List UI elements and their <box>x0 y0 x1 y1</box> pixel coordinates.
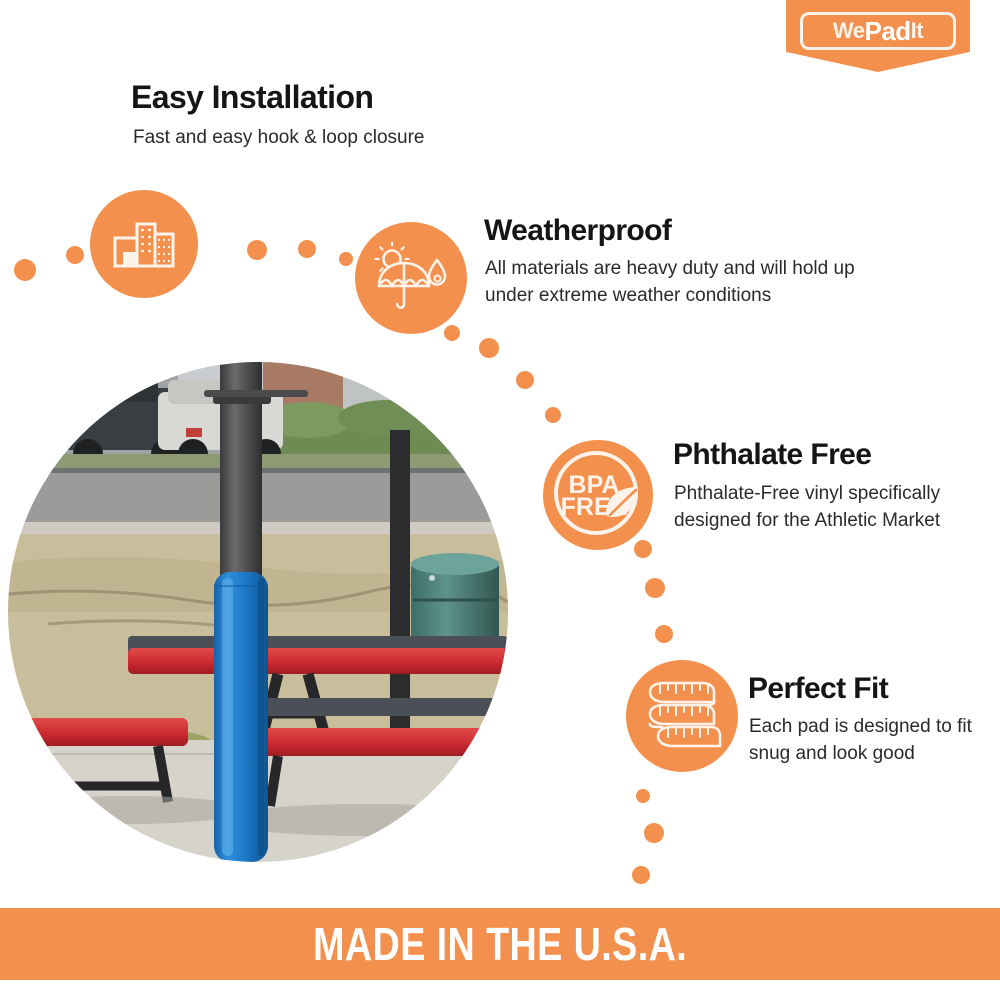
feature-description-phthalate-free: Phthalate-Free vinyl specifically design… <box>674 481 944 535</box>
path-dot <box>444 325 460 341</box>
path-dot <box>644 823 664 843</box>
path-dot <box>636 789 650 803</box>
path-dot <box>298 240 316 258</box>
path-dot <box>479 338 499 358</box>
path-dot <box>247 240 267 260</box>
measuring-tape-icon <box>626 660 738 772</box>
product-photo-circle <box>8 362 508 862</box>
brand-logo-we: We <box>833 18 865 44</box>
bpa-free-leaf-icon: BPA FREE <box>543 440 653 550</box>
brand-logo-it: It <box>911 18 923 44</box>
feature-title-phthalate-free: Phthalate Free <box>673 438 871 472</box>
path-dot <box>14 259 36 281</box>
brand-logo-pad: Pad <box>864 16 910 47</box>
path-dot <box>66 246 84 264</box>
brand-logo-text: WePadIt <box>800 12 956 50</box>
made-in-usa-text: MADE IN THE U.S.A. <box>313 917 687 971</box>
infographic-page: WePadIt Easy Installation Fast and easy … <box>0 0 1000 987</box>
path-dot <box>339 252 353 266</box>
path-dot <box>655 625 673 643</box>
feature-title-weatherproof: Weatherproof <box>484 214 671 248</box>
building-installation-icon <box>90 190 198 298</box>
sun-umbrella-raindrop-icon <box>355 222 467 334</box>
path-dot <box>545 407 561 423</box>
feature-title-perfect-fit: Perfect Fit <box>748 672 888 706</box>
feature-description-weatherproof: All materials are heavy duty and will ho… <box>485 256 905 310</box>
path-dot <box>645 578 665 598</box>
feature-title-easy-installation: Easy Installation <box>131 79 373 116</box>
feature-description-easy-installation: Fast and easy hook & loop closure <box>133 125 553 152</box>
path-dot <box>632 866 650 884</box>
path-dot <box>516 371 534 389</box>
made-in-usa-banner: MADE IN THE U.S.A. <box>0 908 1000 980</box>
feature-description-perfect-fit: Each pad is designed to fit snug and loo… <box>749 714 979 768</box>
